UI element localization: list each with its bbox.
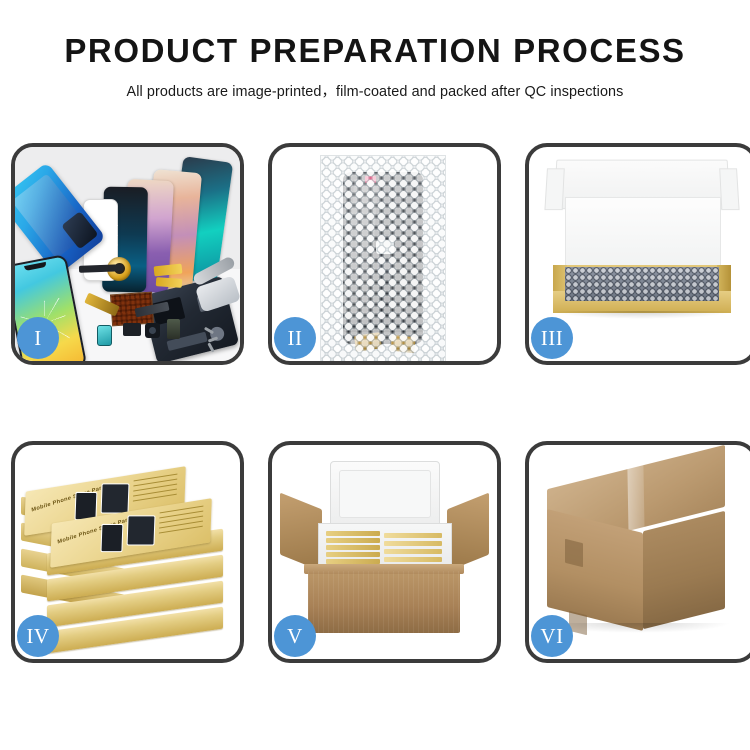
carton-side-face (643, 511, 725, 629)
box-window-screen-icon (101, 483, 130, 513)
gold-boxes-inside (326, 529, 442, 569)
camera-module-icon (97, 325, 112, 346)
step-badge-4: IV (17, 615, 59, 657)
box-checklist-lines (159, 506, 204, 543)
bubble-texture-icon (565, 267, 719, 301)
carton-tab-icon (565, 539, 583, 567)
step-panel-5: V (268, 441, 501, 663)
step-panel-1: I (11, 143, 244, 365)
foam-lid-icon (330, 461, 440, 529)
step-panel-6: VI (525, 441, 750, 663)
step-panel-4: Mobile Phone Spare Parts Mobile Phone Sp… (11, 441, 244, 663)
bubble-wrapped-contents-icon (565, 267, 719, 301)
page-title: PRODUCT PREPARATION PROCESS (0, 34, 750, 67)
step-badge-3: III (531, 317, 573, 359)
camera-module-icon (145, 323, 160, 338)
carton-texture (308, 571, 460, 633)
step-badge-1: I (17, 317, 59, 359)
step-panel-2: II (268, 143, 501, 365)
box-window-screen-icon (127, 515, 156, 545)
foam-sheet-icon (565, 197, 721, 271)
step-badge-5: V (274, 615, 316, 657)
packing-tape-icon (627, 461, 644, 539)
step-panel-3: III (525, 143, 750, 365)
carton-flap-right (447, 493, 489, 572)
carton-flap-left (280, 493, 322, 572)
bubble-wrap-bag-icon (320, 155, 446, 361)
flex-cable-icon (156, 277, 183, 288)
product-preparation-infographic: PRODUCT PREPARATION PROCESS All products… (0, 0, 750, 750)
header: PRODUCT PREPARATION PROCESS All products… (0, 0, 750, 101)
gold-box-stack: Mobile Phone Spare Parts Mobile Phone Sp… (21, 469, 235, 645)
box-window-screen-icon (101, 524, 124, 552)
carton-body-icon (308, 571, 460, 633)
step-badge-6: VI (531, 615, 573, 657)
battery-icon (167, 319, 180, 339)
box-shadow (551, 311, 733, 319)
notch-icon (24, 262, 47, 271)
bubble-texture-icon (321, 156, 445, 361)
page-subtitle: All products are image-printed，film-coat… (0, 67, 750, 101)
step-badge-2: II (274, 317, 316, 359)
speaker-icon (123, 323, 141, 336)
screws-icon (204, 329, 226, 351)
steps-grid: I (11, 143, 739, 685)
